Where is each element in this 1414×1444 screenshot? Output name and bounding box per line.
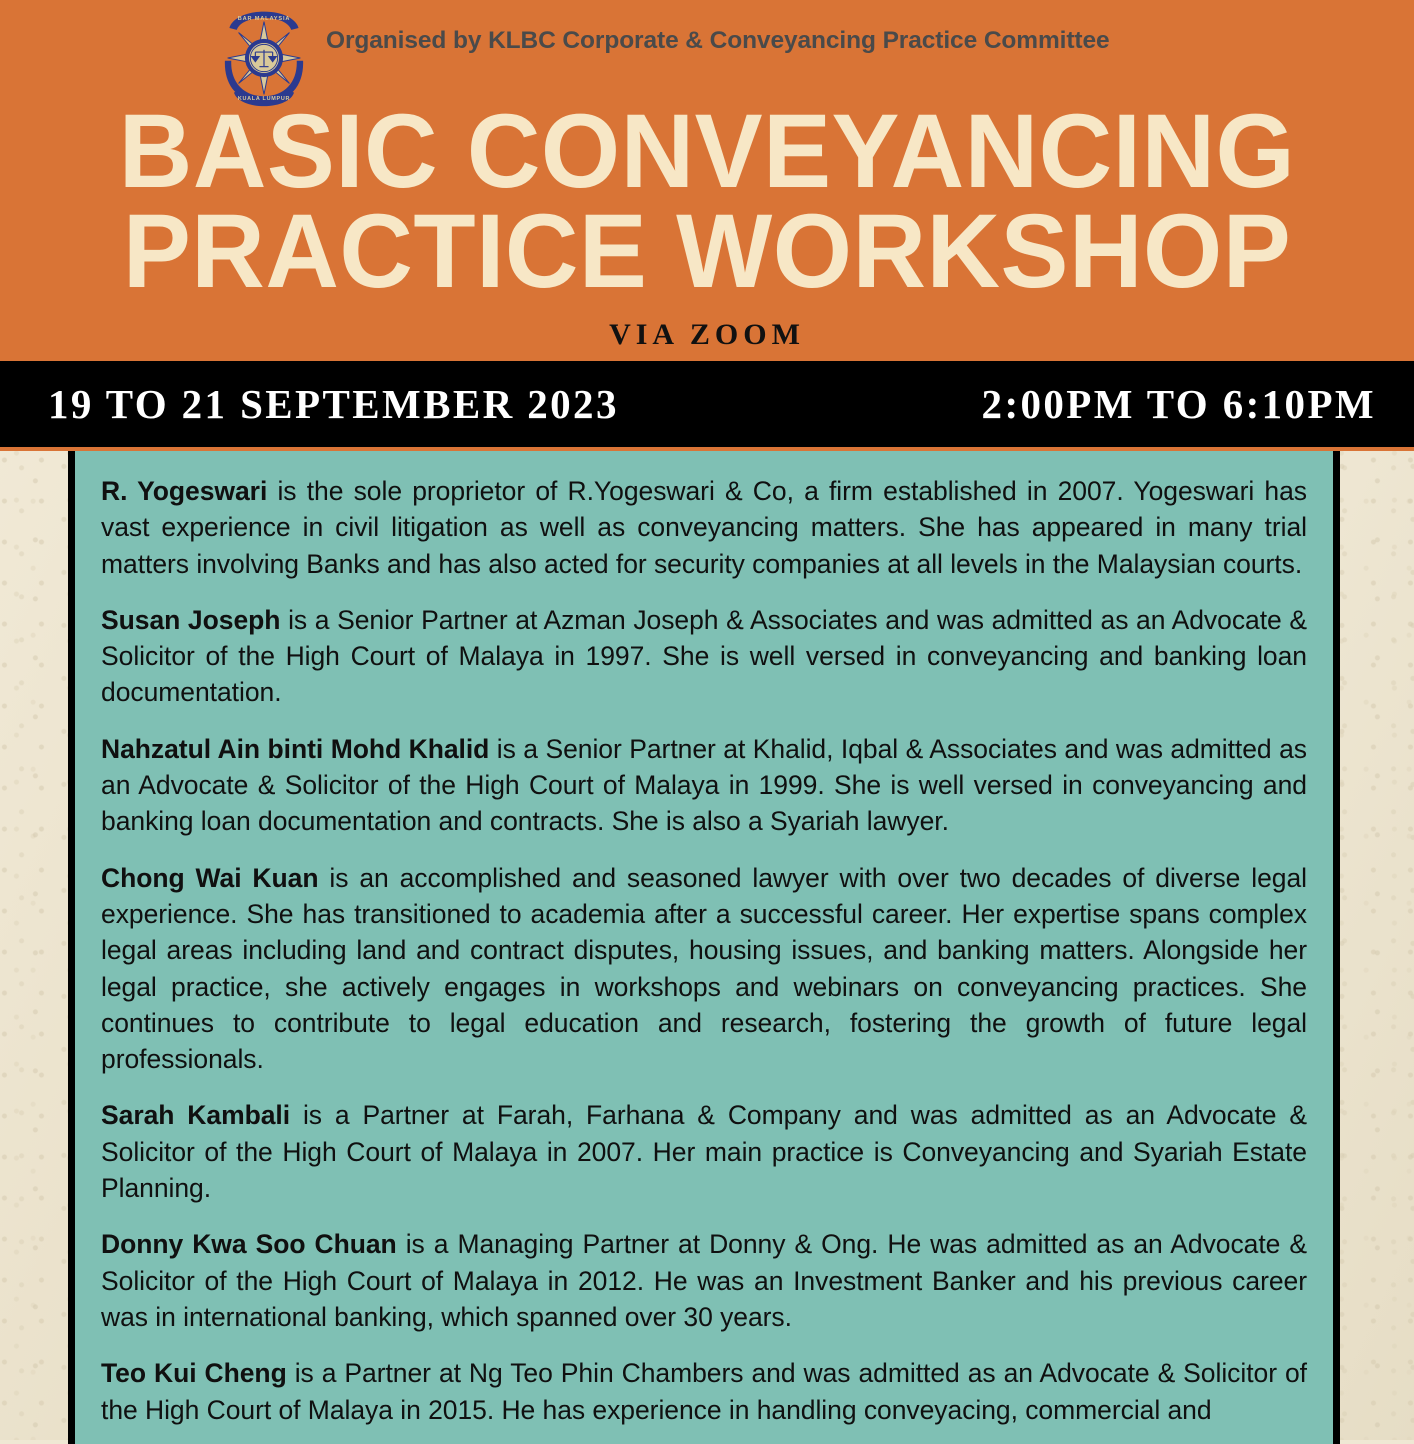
speaker-bio-text: is the sole proprietor of R.Yogeswari & … xyxy=(101,476,1307,579)
speaker-name: Teo Kui Cheng xyxy=(101,1358,287,1388)
date-time-bar: 19 TO 21 SEPTEMBER 2023 2:00PM TO 6:10PM xyxy=(0,361,1414,447)
speaker-bio-text: is a Senior Partner at Azman Joseph & As… xyxy=(101,605,1307,708)
speaker-name: Sarah Kambali xyxy=(101,1100,290,1130)
speaker-bio: Nahzatul Ain binti Mohd Khalid is a Seni… xyxy=(101,731,1307,840)
speaker-bio: R. Yogeswari is the sole proprietor of R… xyxy=(101,473,1307,582)
organiser-row: BAR MALAYSIA KUALA LUMPUR xyxy=(0,0,1414,108)
speaker-name: Nahzatul Ain binti Mohd Khalid xyxy=(101,734,489,764)
speaker-name: Chong Wai Kuan xyxy=(101,863,318,893)
title-line-2: PRACTICE WORKSHOP xyxy=(21,202,1393,302)
poster-header: BAR MALAYSIA KUALA LUMPUR xyxy=(0,0,1414,357)
event-dates: 19 TO 21 SEPTEMBER 2023 xyxy=(48,380,619,428)
speaker-bio: Donny Kwa Soo Chuan is a Managing Partne… xyxy=(101,1226,1307,1335)
title-line-1: BASIC CONVEYANCING xyxy=(21,102,1393,202)
event-times: 2:00PM TO 6:10PM xyxy=(982,380,1376,428)
speaker-bio: Sarah Kambali is a Partner at Farah, Far… xyxy=(101,1097,1307,1206)
speaker-name: Susan Joseph xyxy=(101,605,280,635)
speaker-bios-panel: R. Yogeswari is the sole proprietor of R… xyxy=(68,451,1340,1444)
speaker-name: Donny Kwa Soo Chuan xyxy=(101,1229,397,1259)
speaker-bio: Teo Kui Cheng is a Partner at Ng Teo Phi… xyxy=(101,1355,1307,1428)
speaker-bios-section: R. Yogeswari is the sole proprietor of R… xyxy=(0,451,1414,1444)
page-title: BASIC CONVEYANCING PRACTICE WORKSHOP xyxy=(0,102,1414,302)
subtitle-via-zoom: VIA ZOOM xyxy=(0,318,1414,352)
svg-text:BAR MALAYSIA: BAR MALAYSIA xyxy=(238,16,290,22)
speaker-bio-text: is an accomplished and seasoned lawyer w… xyxy=(101,863,1307,1074)
speaker-name: R. Yogeswari xyxy=(101,476,267,506)
organiser-label: Organised by KLBC Corporate & Conveyanci… xyxy=(326,29,1110,54)
speaker-bio: Chong Wai Kuan is an accomplished and se… xyxy=(101,860,1307,1078)
speaker-bio: Susan Joseph is a Senior Partner at Azma… xyxy=(101,602,1307,711)
